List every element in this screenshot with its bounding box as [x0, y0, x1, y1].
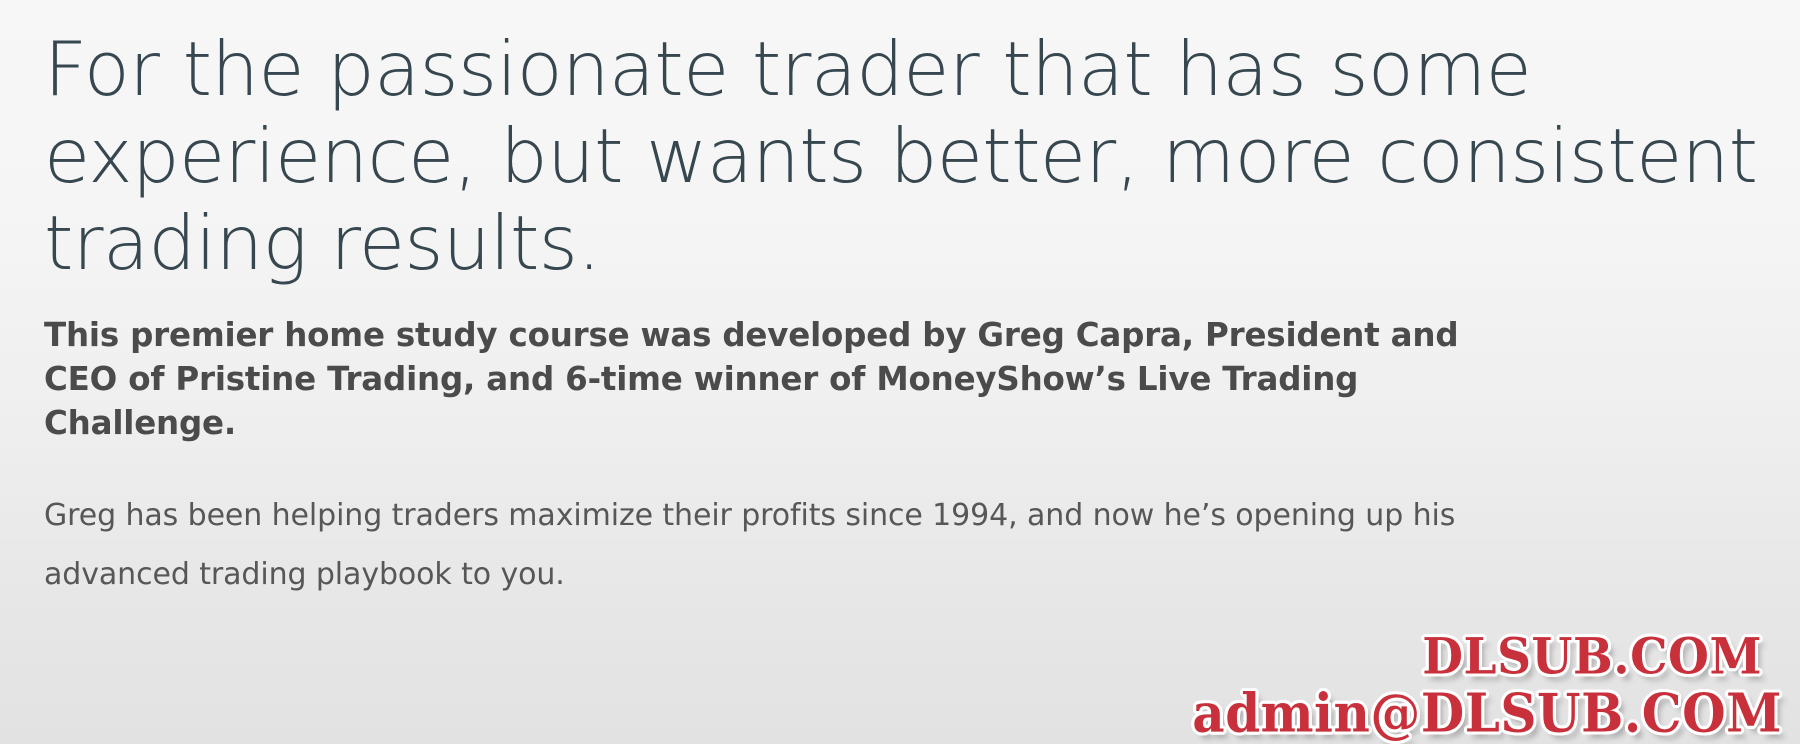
- watermark-email: admin@DLSUB.COM: [1192, 686, 1782, 740]
- hero-content: For the passionate trader that has some …: [44, 0, 1784, 604]
- page-title: For the passionate trader that has some …: [44, 0, 1774, 287]
- hero-body-text: Greg has been helping traders maximize t…: [44, 446, 1544, 605]
- watermark: DLSUB.COM admin@DLSUB.COM: [1192, 635, 1782, 740]
- hero-subheading: This premier home study course was devel…: [44, 287, 1534, 446]
- watermark-site-name: DLSUB.COM: [1192, 632, 1762, 683]
- hero-section: For the passionate trader that has some …: [0, 0, 1800, 744]
